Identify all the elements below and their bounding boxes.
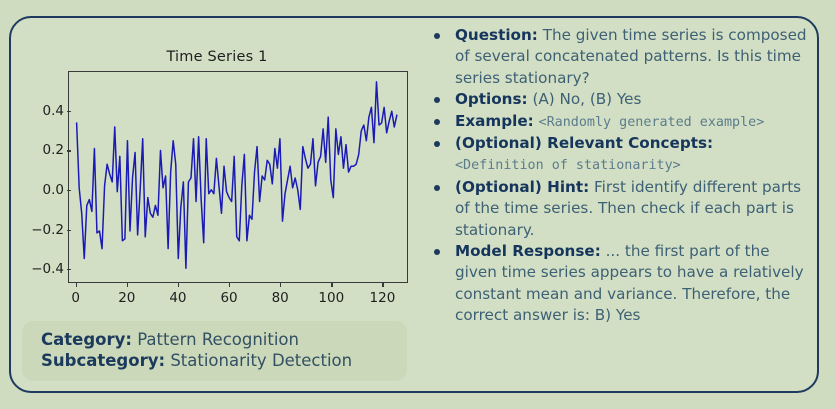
bullet-text: (A) No, (B) Yes [532, 90, 641, 108]
screenshot-root: Time Series 1 0.40.20.0−0.2−0.4 02040608… [0, 0, 835, 409]
time-series-plot [69, 72, 407, 282]
x-tick-mark [178, 283, 179, 287]
x-tick-mark [76, 283, 77, 287]
x-tick-label: 120 [370, 290, 396, 306]
y-axis-ticks: 0.40.20.0−0.2−0.4 [14, 71, 64, 283]
x-tick-label: 80 [272, 290, 289, 306]
chart-column: Time Series 1 0.40.20.0−0.2−0.4 02040608… [11, 18, 423, 395]
series-line [77, 82, 397, 268]
bullet-label: (Optional) Hint: [455, 178, 589, 196]
x-axis-ticks: 020406080100120 [68, 283, 408, 313]
x-tick-label: 40 [169, 290, 186, 306]
x-tick-mark [331, 283, 332, 287]
bullet-question: Question: The given time series is compo… [423, 25, 816, 89]
x-tick-mark [280, 283, 281, 287]
x-tick-label: 0 [71, 290, 80, 306]
category-line: Category: Pattern Recognition [41, 329, 407, 350]
bullet-options: Options: (A) No, (B) Yes [423, 89, 816, 110]
y-tick-label: 0.4 [18, 103, 64, 119]
bullet-label: Question: [455, 26, 538, 44]
bullet-label: Options: [455, 90, 528, 108]
x-tick-label: 100 [318, 290, 344, 306]
subcategory-label: Subcategory: [41, 351, 165, 370]
chart-title: Time Series 1 [11, 49, 423, 65]
subcategory-line: Subcategory: Stationarity Detection [41, 350, 407, 371]
bullet-text: <Definition of stationarity> [455, 158, 681, 173]
bullet-hint: (Optional) Hint: First identify differen… [423, 177, 816, 241]
bullet-label: Example: [455, 112, 534, 130]
subcategory-value: Stationarity Detection [170, 351, 352, 370]
y-tick-label: −0.4 [18, 261, 64, 277]
category-chip: Category: Pattern Recognition Subcategor… [22, 321, 407, 381]
x-tick-label: 20 [118, 290, 135, 306]
example-card: Time Series 1 0.40.20.0−0.2−0.4 02040608… [9, 16, 819, 393]
details-column: Question: The given time series is compo… [423, 18, 816, 395]
plot-area [68, 71, 408, 283]
bullet-relevant-concepts: (Optional) Relevant Concepts:<Definition… [423, 133, 816, 177]
bullet-label: Model Response: [455, 242, 601, 260]
y-tick-label: 0.0 [18, 182, 64, 198]
x-tick-mark [382, 283, 383, 287]
details-bullet-list: Question: The given time series is compo… [423, 25, 816, 327]
x-tick-label: 60 [220, 290, 237, 306]
bullet-model-response: Model Response: ... the first part of th… [423, 241, 816, 327]
bullet-label: (Optional) Relevant Concepts: [455, 134, 713, 152]
y-tick-label: 0.2 [18, 142, 64, 158]
category-label: Category: [41, 330, 132, 349]
x-tick-mark [127, 283, 128, 287]
x-tick-mark [229, 283, 230, 287]
bullet-example: Example: <Randomly generated example> [423, 111, 816, 133]
bullet-text: <Randomly generated example> [539, 115, 765, 130]
category-value: Pattern Recognition [137, 330, 299, 349]
y-tick-label: −0.2 [18, 222, 64, 238]
